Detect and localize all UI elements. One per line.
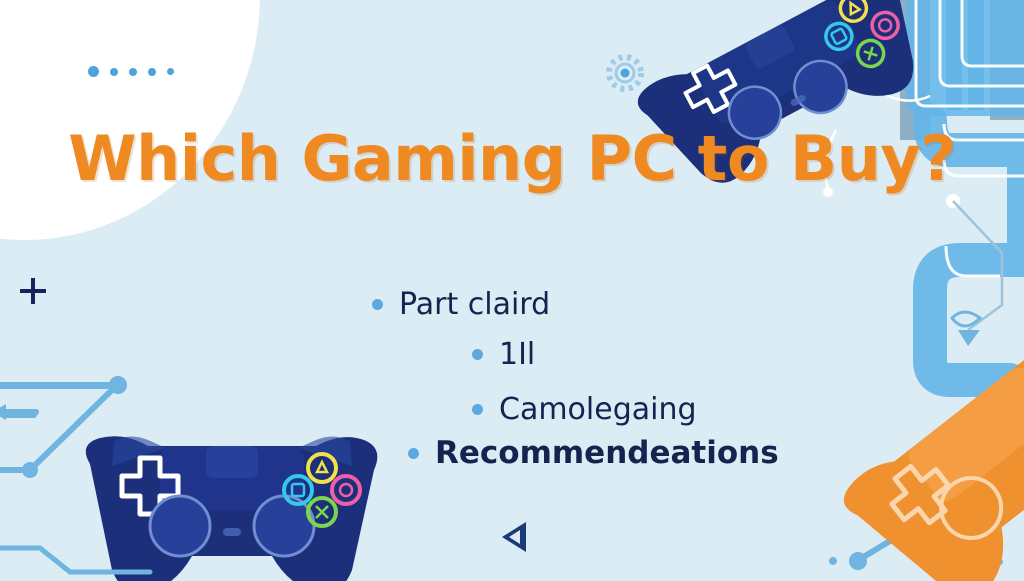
page-title: Which Gaming PC to Buy?: [0, 122, 1024, 195]
circuit-line-bottom-left: [0, 548, 150, 572]
bullet-dot-icon: [472, 404, 483, 415]
button-triangle: [836, 0, 871, 26]
bullet-dot-icon: [408, 448, 419, 459]
analog-stick-right: [785, 52, 855, 122]
play-reverse-icon[interactable]: [502, 522, 526, 552]
gaming-pc-slide: Which Gaming PC to Buy? Part claird 1Il …: [0, 0, 1024, 581]
dot-row-icon: [88, 66, 174, 77]
circuit-node: [991, 503, 1009, 521]
gear-icon: [609, 57, 641, 89]
list-item-label: Camolegaing: [499, 393, 697, 426]
bullet-dot-icon: [472, 349, 483, 360]
list-item-label: Recommendeations: [435, 436, 779, 470]
circuit-node: [849, 552, 867, 570]
circuit-node: [976, 527, 984, 535]
button-circle: [868, 8, 903, 43]
list-item: 1Il: [0, 338, 1024, 371]
white-thread-line: [866, 82, 930, 101]
list-item: Camolegaing: [0, 393, 1024, 426]
page-title-text: Which Gaming PC to Buy?: [68, 122, 956, 195]
list-item-label: Part claird: [399, 288, 550, 321]
dpad-icon: [679, 58, 742, 119]
bullet-dot-icon: [372, 299, 383, 310]
list-item: Recommendeations: [0, 436, 1024, 470]
button-cross: [308, 498, 336, 526]
circuit-node: [892, 526, 910, 544]
button-square: [821, 19, 856, 54]
list-item: Part claird: [0, 288, 1024, 321]
bullet-list: Part claird 1Il Camolegaing Recommendeat…: [0, 288, 1024, 487]
circuit-lines-bottom-right: [855, 510, 1000, 562]
button-cross: [853, 36, 888, 71]
list-item-label: 1Il: [499, 338, 535, 371]
circuit-node: [829, 557, 837, 565]
white-circle-blob: [0, 0, 260, 240]
analog-stick-left: [150, 496, 210, 556]
analog-stick-right: [254, 496, 314, 556]
